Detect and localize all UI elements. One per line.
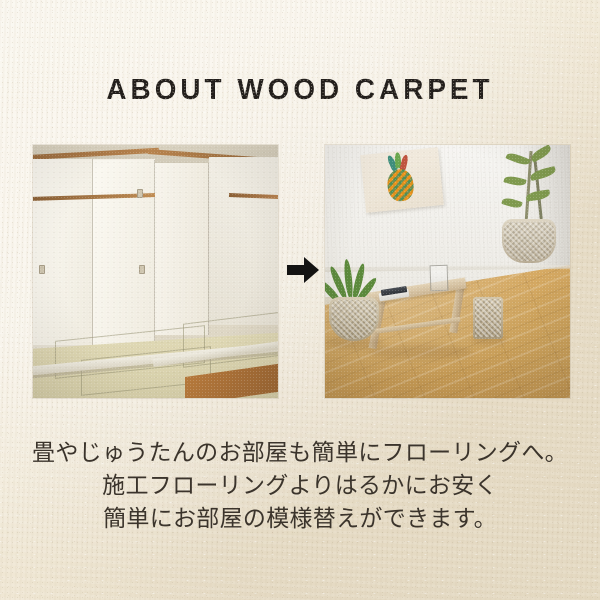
right-wall [209,157,278,325]
fusuma-door-2 [93,160,155,345]
bench-shadow [369,345,473,359]
woven-basket-small [473,297,503,339]
caption-line-2: 施工フローリングよりはるかにお安く [0,470,600,503]
caption-line-3: 簡単にお部屋の模様替えができます。 [0,503,600,536]
page-background: ABOUT WOOD CARPET [0,0,600,600]
arrow-right-icon [286,255,320,285]
door-handle-2 [137,189,143,198]
after-photo [325,145,570,398]
pineapple-body [386,168,415,203]
door-handle-3 [139,265,145,274]
before-photo [33,145,278,398]
fusuma-door-3 [155,163,209,335]
woven-planter-right [502,219,556,263]
pineapple-artwork [360,147,444,213]
page-title: ABOUT WOOD CARPET [12,74,588,107]
glass-lantern [430,265,449,292]
woven-planter-left [329,297,379,341]
caption-block: 畳やじゅうたんのお部屋も簡単にフローリングへ。 施工フローリングよりはるかにお安… [0,437,600,536]
fusuma-door-1 [33,159,93,345]
door-handle-1 [39,265,45,274]
caption-line-1: 畳やじゅうたんのお部屋も簡単にフローリングへ。 [0,437,600,470]
